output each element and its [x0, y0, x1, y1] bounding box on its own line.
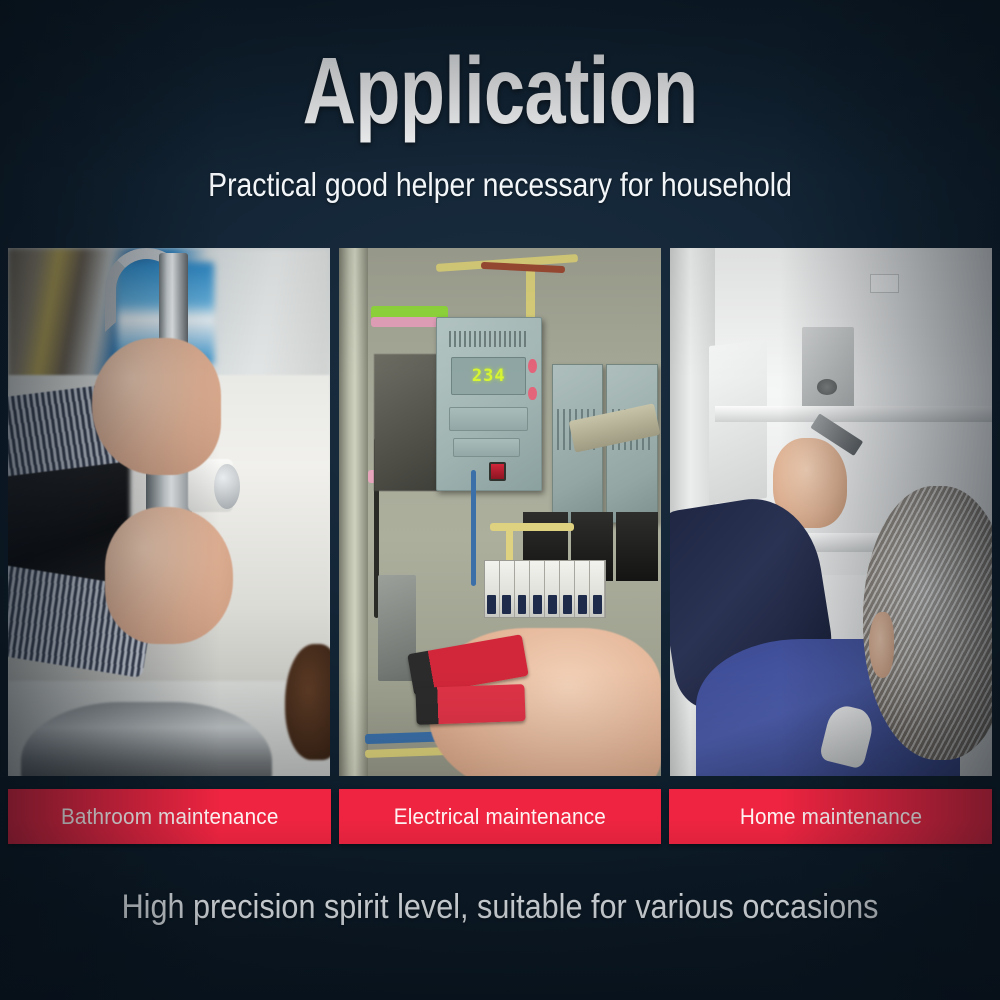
footer-tagline: High precision spirit level, suitable fo…	[50, 888, 950, 927]
sink-basin	[21, 702, 272, 776]
fridge-shelf-upper	[715, 406, 992, 422]
left-equipment-block	[374, 354, 438, 491]
controller-unit: 234	[436, 317, 542, 491]
photo-electrical-maintenance: 234	[339, 248, 661, 776]
breaker-pole	[575, 561, 590, 617]
caption-label: Electrical maintenance	[394, 804, 606, 830]
page-title: Application	[110, 44, 890, 139]
photo-strip: 234	[8, 248, 992, 776]
hand-upper	[92, 338, 221, 475]
breaker-pole	[545, 561, 560, 617]
controller-selector-row	[453, 438, 520, 457]
wire-yellow-mid	[490, 523, 574, 531]
breaker-pole	[515, 561, 530, 617]
circuit-breaker-bank	[484, 560, 606, 618]
ear	[869, 612, 894, 678]
photo-bathroom-maintenance	[8, 248, 330, 776]
led-display-value: 234	[472, 366, 506, 386]
breaker-pole	[560, 561, 575, 617]
breaker-pole	[485, 561, 500, 617]
red-pliers-lower	[416, 684, 527, 725]
faucet-knob	[214, 464, 240, 509]
caption-bar-row: Bathroom maintenance Electrical maintena…	[8, 789, 992, 844]
caption-bathroom-maintenance: Bathroom maintenance	[8, 789, 331, 844]
caption-label: Bathroom maintenance	[61, 804, 279, 830]
breaker-pole	[590, 561, 605, 617]
terminal-block-three	[616, 512, 658, 581]
caption-label: Home maintenance	[740, 804, 922, 830]
page-subtitle: Practical good helper necessary for hous…	[70, 167, 930, 203]
cabinet-door-frame	[339, 248, 368, 776]
fridge-bin	[709, 340, 767, 504]
led-display: 234	[451, 357, 526, 395]
emergency-stop-button	[489, 462, 507, 481]
controller-button-row	[449, 407, 528, 431]
breaker-pole	[530, 561, 545, 617]
indicator-led-top	[528, 359, 536, 373]
fridge-label	[870, 274, 899, 292]
caption-electrical-maintenance: Electrical maintenance	[339, 789, 662, 844]
photo-home-maintenance	[670, 248, 992, 776]
controller-title-text	[449, 331, 528, 347]
promo-page: Application Practical good helper necess…	[0, 0, 1000, 1000]
caption-home-maintenance: Home maintenance	[669, 789, 992, 844]
wire-blue-drop	[471, 470, 476, 586]
indicator-led-bottom	[528, 387, 536, 401]
breaker-pole	[500, 561, 515, 617]
hand-lower	[105, 507, 234, 644]
